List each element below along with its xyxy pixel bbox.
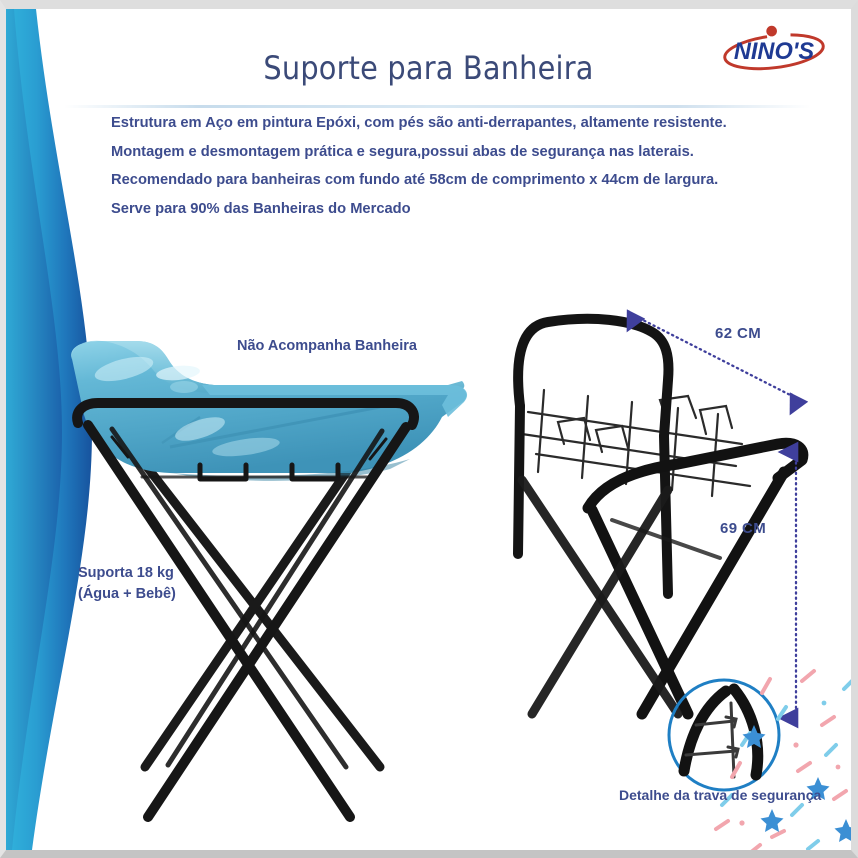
capacity-line-1: Suporta 18 kg (78, 563, 176, 584)
confetti-decoration (706, 659, 851, 850)
infographic-canvas: NINO'S Suporte para Banheira Estrutura e… (6, 9, 851, 850)
dimension-label-height: 69 CM (720, 520, 766, 537)
capacity-line-2: (Água + Bebê) (78, 584, 176, 605)
feature-item: Recomendado para banheiras com fundo até… (111, 172, 811, 190)
caption-weight-capacity: Suporta 18 kg (Água + Bebê) (78, 563, 176, 605)
feature-item: Montagem e desmontagem prática e segura,… (111, 144, 811, 162)
title-divider (64, 105, 811, 108)
caption-tub-not-included: Não Acompanha Banheira (237, 338, 417, 354)
caption-safety-lock-detail: Detalhe da trava de segurança (619, 787, 821, 803)
feature-item: Estrutura em Aço em pintura Epóxi, com p… (111, 115, 811, 133)
page-title: Suporte para Banheira (6, 49, 851, 87)
product-infographic: NINO'S Suporte para Banheira Estrutura e… (0, 0, 858, 858)
feature-item: Serve para 90% das Banheiras do Mercado (111, 201, 811, 219)
dimension-label-width: 62 CM (715, 325, 761, 342)
feature-list: Estrutura em Aço em pintura Epóxi, com p… (111, 115, 811, 230)
